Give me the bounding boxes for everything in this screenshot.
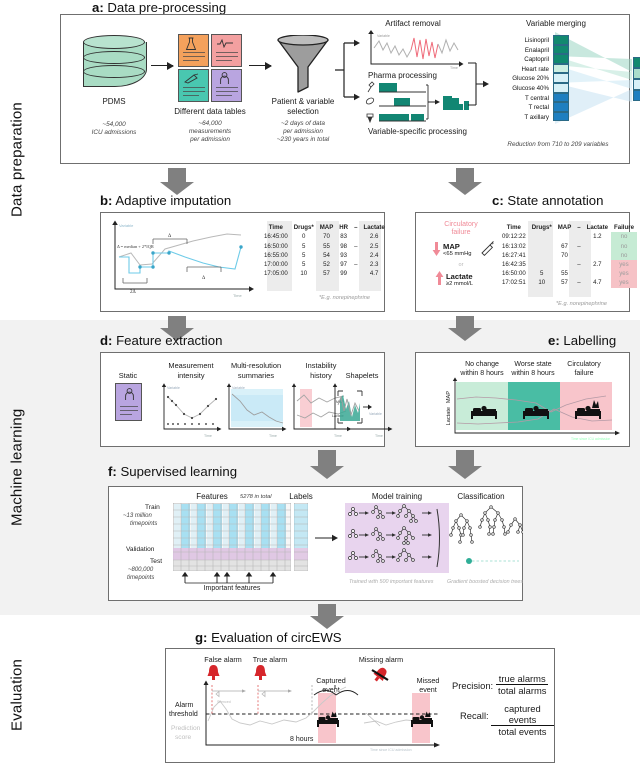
selection-label-line2: selection — [287, 107, 319, 116]
section-label-evaluation: Evaluation — [0, 615, 34, 775]
source-variable-label: T axillary — [491, 114, 549, 121]
source-variable-label: Glucose 40% — [491, 85, 549, 92]
table-cell — [574, 232, 583, 241]
panel-b: Variable Time Δ Δ 2Δ Δ = median + 2*IQR … — [100, 212, 385, 312]
criteria-map-line2: <65 mmHg — [443, 251, 472, 257]
pdms-label: PDMS — [102, 97, 125, 106]
svg-text:Variable: Variable — [377, 34, 390, 38]
feature-shapelets-label: Shapelets — [346, 371, 379, 380]
table-row: 16:42:35–2.7yes — [499, 260, 637, 269]
table-cell: – — [574, 260, 583, 269]
table-cell: 09:12:22 — [499, 232, 529, 241]
merged-variable-cell — [633, 79, 640, 90]
precision-formula: true alarms total alarms — [496, 673, 548, 696]
panel-g-letter: g: — [195, 630, 207, 645]
table-header-cell: Drugs* — [291, 223, 317, 232]
table-c-footnote: *E.g. norepinephrine — [556, 301, 607, 307]
table-cell: 54 — [317, 251, 337, 260]
table-cell: 99 — [336, 269, 351, 278]
labels-title: Labels — [289, 492, 313, 501]
table-cell: 83 — [336, 232, 351, 241]
table-cell — [584, 251, 611, 260]
row-label-test: Test — [150, 558, 162, 565]
bed-icon-no-change — [470, 403, 498, 419]
table-cell: 5 — [529, 269, 555, 278]
selection-label-line1: Patient & variable — [272, 97, 335, 106]
svg-text:Variable: Variable — [119, 223, 134, 228]
label-segment-1-line1: Worse state — [514, 361, 551, 368]
recall-numerator: captured events — [491, 703, 554, 725]
table-cell: 10 — [291, 269, 317, 278]
table-cell: 2.6 — [360, 232, 387, 241]
feature-instability-label-l1: Instability — [306, 361, 337, 370]
table-header-cell: Time — [499, 223, 529, 232]
panel-a-title-text: Data pre-processing — [107, 0, 226, 15]
table-cell: 10 — [529, 278, 555, 287]
panel-d-title: d: Feature extraction — [100, 333, 222, 348]
features-count: 5278 in total — [240, 494, 272, 500]
svg-text:8 hours: 8 hours — [290, 736, 314, 743]
svg-text:Δ: Δ — [168, 234, 172, 239]
table-header-cell: Time — [261, 223, 291, 232]
table-header-cell: – — [574, 223, 583, 232]
panel-d-letter: d: — [100, 333, 112, 348]
label-segment-1-line2: within 8 hours — [511, 370, 554, 377]
criteria-lactate-line2: ≥2 mmol/L — [446, 281, 473, 287]
bell-icon-true-alarm — [253, 664, 268, 682]
table-cell — [529, 242, 555, 251]
table-cell: 16:50:00 — [499, 269, 529, 278]
recall-label: Recall: — [460, 710, 489, 721]
row-label-train: Train — [145, 504, 160, 511]
imputation-chart: Variable Time Δ Δ 2Δ Δ = median + 2*IQR — [107, 217, 257, 305]
criteria-map-line1: MAP — [443, 242, 460, 251]
table-cell: no — [611, 251, 637, 260]
panel-c-title: c: State annotation — [492, 193, 603, 208]
table-cell: 17:00:00 — [261, 260, 291, 269]
labelling-ylabel-lactate: Lactate — [446, 407, 452, 425]
merged-variable-cell — [633, 90, 640, 101]
panel-g-title: g: Evaluation of circEWS — [195, 630, 342, 645]
variable-specific-processing-title: Variable-specific processing — [368, 127, 467, 136]
svg-text:Time since ICU admission: Time since ICU admission — [370, 748, 412, 752]
labels-column — [294, 503, 308, 571]
table-cell: 17:05:00 — [261, 269, 291, 278]
table-cell: 2.5 — [360, 242, 387, 251]
feature-multires-chart: Variable Time — [223, 381, 289, 441]
table-row: 17:05:001057994.7 — [261, 269, 388, 278]
bed-icon-missed-event — [410, 711, 434, 727]
model-training-trees — [345, 503, 457, 573]
table-cell: 70 — [317, 232, 337, 241]
panel-a: PDMS ~54,000 ICU admissions — [60, 14, 630, 164]
state-annotation-table: TimeDrugs*MAP–LactateFailure09:12:221.2n… — [499, 223, 637, 288]
feature-measurement-intensity-label-l2: intensity — [177, 371, 204, 380]
table-cell: – — [351, 260, 360, 269]
table-row: 17:00:0055297–2.3 — [261, 260, 388, 269]
table-cell: no — [611, 232, 637, 241]
svg-text:Δ: Δ — [202, 276, 206, 281]
model-training-note: Trained with 500 important features — [349, 579, 433, 585]
drug-syringe-icon: + — [479, 240, 495, 256]
data-tables-note-line2: measurements — [189, 128, 231, 135]
panel-b-title-text: Adaptive imputation — [115, 193, 231, 208]
precision-denominator: total alarms — [496, 684, 548, 696]
table-row: 16:45:00070832.6 — [261, 232, 388, 241]
table-row: 16:55:00554932.4 — [261, 251, 388, 260]
precision-label: Precision: — [452, 680, 493, 691]
data-table-card-lab — [178, 34, 209, 67]
artifact-removal-title: Artifact removal — [385, 19, 441, 28]
table-cell — [555, 260, 575, 269]
merged-variable-cell — [633, 68, 640, 79]
variable-merging-title: Variable merging — [526, 19, 586, 28]
table-header-cell: Lactate — [584, 223, 611, 232]
table-row: 16:50:00555yes — [499, 269, 637, 278]
table-cell — [529, 251, 555, 260]
flow-arrow-a-to-c — [448, 168, 482, 195]
svg-text:Time since ICU admission: Time since ICU admission — [571, 437, 610, 441]
bell-icon-missing-alarm — [371, 665, 389, 685]
panel-d-title-text: Feature extraction — [116, 333, 222, 348]
source-variable-cell — [553, 83, 569, 93]
table-cell: 16:13:02 — [499, 242, 529, 251]
flow-arrow-c-to-e — [448, 316, 482, 341]
table-cell: 0 — [291, 232, 317, 241]
panel-a-title: a: Data pre-processing — [92, 0, 226, 15]
table-cell: 57 — [317, 269, 337, 278]
table-cell: 52 — [317, 260, 337, 269]
panel-c-title-text: State annotation — [507, 193, 603, 208]
alarm-threshold-label-l2: threshold — [169, 711, 198, 718]
criteria-lactate-line1: Lactate — [446, 272, 473, 281]
svg-text:+: + — [491, 241, 494, 247]
source-variable-label: Lisinopril — [491, 37, 549, 44]
table-header-cell: – — [351, 223, 360, 232]
flow-arrow-a-to-b — [160, 168, 194, 195]
feature-static-label: Static — [119, 371, 137, 380]
model-training-title: Model training — [372, 492, 422, 501]
pharma-processing-title: Pharma processing — [368, 71, 437, 80]
panel-e-letter: e: — [548, 333, 560, 348]
panel-c: Circulatory failure MAP <65 mmHg + or La… — [415, 212, 630, 312]
selection-note-line3: ~230 years in total — [277, 136, 329, 143]
table-cell: 98 — [336, 242, 351, 251]
table-header-cell: HR — [336, 223, 351, 232]
prediction-score-label-l1: Prediction — [171, 725, 200, 732]
selection-note-line2: per admission — [283, 128, 323, 135]
table-cell — [574, 269, 583, 278]
table-cell: 70 — [555, 251, 575, 260]
recall-denominator: total events — [491, 725, 554, 737]
table-cell: 2.3 — [360, 260, 387, 269]
flow-arrow-e-to-f — [448, 450, 482, 479]
classification-note: Gradient boosted decision trees — [447, 579, 523, 585]
data-tables-note-line3: per admission — [190, 136, 230, 143]
panel-b-title: b: Adaptive imputation — [100, 193, 231, 208]
source-variable-label: Heart rate — [491, 66, 549, 73]
feature-measurement-intensity-label-l1: Measurement — [168, 361, 213, 370]
feature-multires-label-l1: Multi-resolution — [231, 361, 281, 370]
prediction-score-label-l2: score — [175, 734, 191, 741]
svg-text:Δ = median + 2*IQR: Δ = median + 2*IQR — [117, 244, 154, 249]
table-cell: yes — [611, 269, 637, 278]
bed-icon-worse-state — [522, 403, 550, 419]
precision-numerator: true alarms — [496, 673, 548, 684]
label-segment-0-line2: within 8 hours — [460, 370, 503, 377]
data-table-card-vitals — [211, 34, 242, 67]
map-down-arrow-icon — [432, 241, 441, 256]
table-cell: – — [351, 242, 360, 251]
svg-text:Silenced: Silenced — [217, 700, 231, 704]
bed-icon-captured-event — [316, 711, 340, 727]
table-cell: yes — [611, 260, 637, 269]
source-variable-cell — [553, 54, 569, 64]
evaluation-chart: Silenced 8 hours Time since ICU admissio… — [194, 663, 444, 753]
table-cell — [529, 260, 555, 269]
panel-b-letter: b: — [100, 193, 112, 208]
panel-f: Features 5278 in total Labels Model trai… — [108, 486, 523, 601]
source-variable-label: Enalapril — [491, 47, 549, 54]
source-variable-cell — [553, 35, 569, 45]
feature-shapelets-chart: Time Variable — [329, 381, 395, 441]
label-segment-2-line1: Circulatory — [567, 361, 600, 368]
important-features-arrows — [173, 572, 291, 584]
criteria-or: or — [459, 262, 464, 268]
panel-d: Static Measurement intensity Variable Ti… — [100, 352, 385, 447]
table-cell: 2.7 — [584, 260, 611, 269]
row-note-test-l1: ~800,000 — [128, 567, 153, 573]
svg-text:Time: Time — [204, 434, 212, 438]
svg-text:Time: Time — [375, 434, 383, 438]
table-cell: no — [611, 242, 637, 251]
svg-text:2Δ: 2Δ — [130, 290, 137, 295]
source-variable-label: T rectal — [491, 104, 549, 111]
source-variable-label: Captopril — [491, 56, 549, 63]
table-cell — [351, 269, 360, 278]
pdms-note-line2: ICU admissions — [92, 129, 137, 136]
data-tables-note-line1: ~64,000 — [198, 120, 221, 127]
svg-text:Variable: Variable — [369, 412, 382, 416]
arrow-db-to-tables — [151, 65, 173, 66]
table-row: 17:02:511057–4.7yes — [499, 278, 637, 287]
table-cell: 16:55:00 — [261, 251, 291, 260]
bell-icon-false-alarm — [206, 664, 221, 682]
artifact-removal-chart: Variable Time — [366, 30, 466, 70]
important-features-label: Important features — [204, 585, 261, 592]
pharma-processing-chart — [364, 81, 469, 125]
table-header-cell: Lactate — [360, 223, 387, 232]
criteria-title-line2: failure — [451, 229, 470, 236]
panel-g: False alarm True alarm Missing alarm Cap… — [165, 648, 555, 763]
section-label-machine-learning: Machine learning — [0, 320, 34, 615]
table-cell: 1.2 — [584, 232, 611, 241]
table-row: 16:13:0267–no — [499, 242, 637, 251]
source-variable-cell — [553, 73, 569, 83]
bed-icon-circulatory-failure — [574, 399, 602, 419]
panel-e-title: e: Labelling — [548, 333, 616, 348]
features-title: Features — [196, 492, 228, 501]
row-note-train-l2: timepoints — [130, 521, 157, 527]
table-cell: 2.4 — [360, 251, 387, 260]
data-table-card-patient — [211, 69, 242, 102]
data-table-card-drugs — [178, 69, 209, 102]
svg-text:Time: Time — [450, 66, 458, 70]
source-variable-cell — [553, 102, 569, 112]
table-cell: – — [574, 242, 583, 251]
imputation-table: TimeDrugs*MAPHR–Lactate16:45:00070832.61… — [261, 223, 388, 278]
row-label-validation: Validation — [126, 546, 154, 553]
table-header-cell: MAP — [317, 223, 337, 232]
table-cell: – — [574, 278, 583, 287]
table-row: 09:12:221.2no — [499, 232, 637, 241]
selection-note-line1: ~2 days of data — [281, 120, 325, 127]
table-cell — [351, 232, 360, 241]
section-label-data-preparation: Data preparation — [0, 0, 34, 320]
table-cell: 16:27:41 — [499, 251, 529, 260]
merged-variable-cell — [633, 57, 640, 68]
source-variable-cell — [553, 45, 569, 55]
panel-f-title-text: Supervised learning — [120, 464, 237, 479]
svg-text:Variable: Variable — [167, 386, 180, 390]
table-cell: 93 — [336, 251, 351, 260]
table-cell — [555, 232, 575, 241]
source-variable-label: T central — [491, 95, 549, 102]
table-cell: 57 — [555, 278, 575, 287]
table-cell: 16:50:00 — [261, 242, 291, 251]
panel-f-title: f: Supervised learning — [108, 464, 237, 479]
table-cell — [351, 251, 360, 260]
merging-note: Reduction from 710 to 209 variables — [507, 141, 608, 148]
arrow-tables-to-funnel — [249, 65, 271, 66]
pdms-database-icon — [83, 35, 145, 93]
source-variable-label: Glucose 20% — [491, 75, 549, 82]
classification-title: Classification — [457, 492, 504, 501]
flow-arrow-d-to-f — [310, 450, 344, 479]
recall-formula: captured events total events — [491, 703, 554, 737]
svg-text:Time: Time — [233, 293, 243, 298]
table-cell: 55 — [555, 269, 575, 278]
feature-multires-label-l2: summaries — [238, 371, 274, 380]
table-cell: 16:42:35 — [499, 260, 529, 269]
table-cell: 5 — [291, 260, 317, 269]
feature-measurement-intensity-chart: Variable Time — [158, 381, 224, 441]
table-b-footnote: *E.g. norepinephrine — [319, 295, 370, 301]
table-cell: 4.7 — [360, 269, 387, 278]
arrow-to-model-training — [315, 533, 339, 543]
pdms-note-line1: ~54,000 — [102, 121, 125, 128]
table-row: 16:50:0055598–2.5 — [261, 242, 388, 251]
source-variable-cell — [553, 112, 569, 122]
feature-matrix — [173, 503, 291, 571]
table-cell — [529, 232, 555, 241]
table-cell — [584, 242, 611, 251]
panel-e: No change within 8 hours Worse state wit… — [415, 352, 630, 447]
svg-text:Variable: Variable — [232, 386, 245, 390]
data-tables-label: Different data tables — [174, 107, 245, 116]
table-cell: 16:45:00 — [261, 232, 291, 241]
table-cell: 55 — [317, 242, 337, 251]
table-cell: 97 — [336, 260, 351, 269]
row-note-test-l2: timepoints — [127, 575, 154, 581]
funnel-icon — [275, 35, 331, 95]
criteria-title-line1: Circulatory — [444, 221, 477, 228]
table-cell: 67 — [555, 242, 575, 251]
table-row: 16:27:4170no — [499, 251, 637, 260]
labelling-ylabel-map: MAP — [446, 391, 452, 403]
panel-g-title-text: Evaluation of circEWS — [211, 630, 341, 645]
feature-static-icon — [115, 383, 142, 421]
row-note-train-l1: ~13 million — [123, 513, 152, 519]
branch-connector — [335, 39, 361, 101]
alarm-threshold-label-l1: Alarm — [175, 702, 193, 709]
feature-instability-label-l2: history — [310, 371, 332, 380]
table-cell — [584, 269, 611, 278]
flow-arrow-f-to-g — [310, 604, 344, 629]
merge-connector — [466, 62, 492, 108]
svg-text:Time: Time — [269, 434, 277, 438]
table-cell: 5 — [291, 242, 317, 251]
table-header-cell: Failure — [611, 223, 637, 232]
panel-f-letter: f: — [108, 464, 117, 479]
label-segment-0-line1: No change — [465, 361, 499, 368]
source-variable-cell — [553, 64, 569, 74]
source-variable-cell — [553, 93, 569, 103]
panel-a-letter: a: — [92, 0, 104, 15]
classification-forest — [449, 503, 523, 575]
panel-e-title-text: Labelling — [563, 333, 616, 348]
table-cell: 4.7 — [584, 278, 611, 287]
label-segment-2-line2: failure — [574, 370, 593, 377]
lactate-up-arrow-icon — [435, 271, 444, 286]
panel-c-letter: c: — [492, 193, 504, 208]
table-header-cell: Drugs* — [529, 223, 555, 232]
table-cell — [574, 251, 583, 260]
table-header-cell: MAP — [555, 223, 575, 232]
table-cell: 17:02:51 — [499, 278, 529, 287]
table-cell: 5 — [291, 251, 317, 260]
table-cell: yes — [611, 278, 637, 287]
